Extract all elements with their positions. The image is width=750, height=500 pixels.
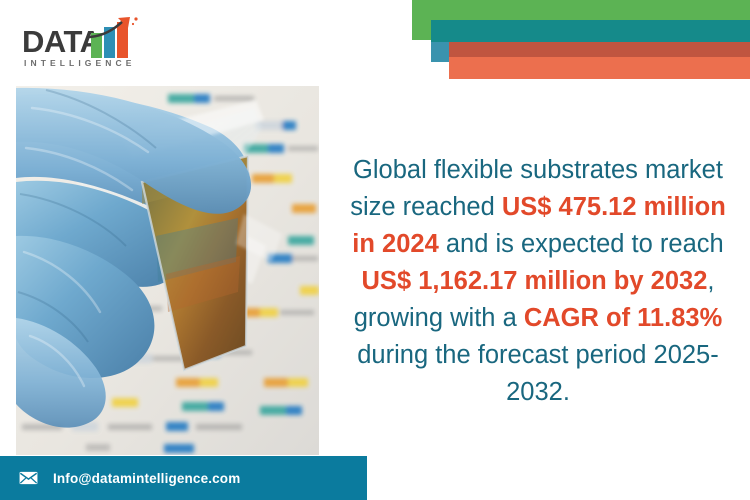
statement-highlight-2032: US$ 1,162.17 million by 2032 (362, 267, 708, 295)
flexible-substrate-photo (16, 86, 319, 455)
statement-part-3: and is expected to reach (439, 230, 724, 258)
decor-block-orange-dark (449, 42, 750, 57)
statement-part-7: during the forecast period 2025-2032. (357, 341, 718, 406)
photo-illustration (16, 86, 319, 455)
logo-subtext: INTELLIGENCE (24, 58, 136, 68)
decor-block-teal (431, 20, 750, 44)
decor-block-orange-light (449, 57, 750, 79)
market-statement: Global flexible substrates market size r… (336, 152, 740, 411)
envelope-icon (19, 471, 38, 485)
decor-block-blue (431, 42, 449, 62)
brand-logo[interactable]: DATA INTELLIGENCE (22, 14, 182, 72)
statement-highlight-cagr: CAGR of 11.83% (524, 304, 722, 332)
logo-growth-arrow-icon (88, 16, 142, 40)
infographic-canvas: DATA INTELLIGENCE (0, 0, 750, 500)
contact-email-text: Info@datamintelligence.com (53, 471, 240, 486)
contact-email-bar[interactable]: Info@datamintelligence.com (0, 456, 367, 500)
